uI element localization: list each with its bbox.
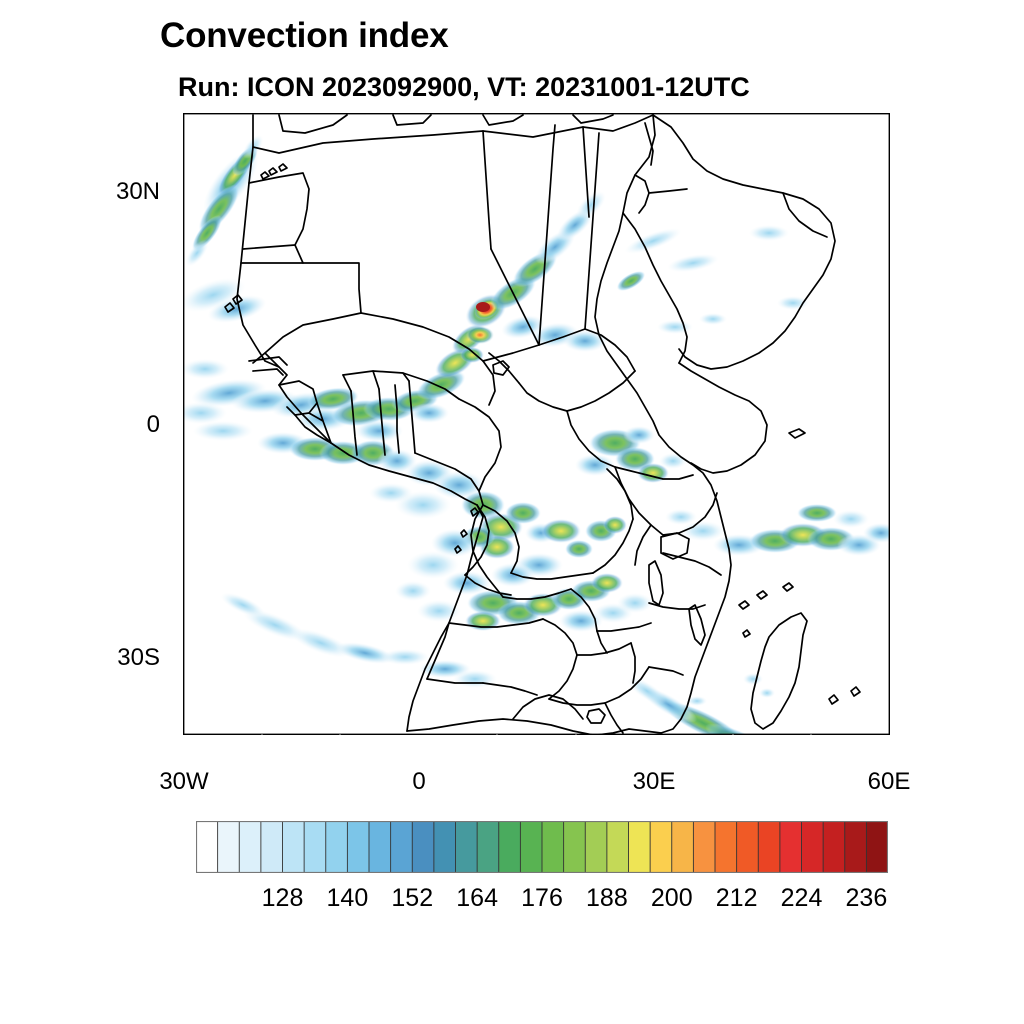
colorbar-tick-label: 140 [312,884,382,913]
colorbar-cell [196,821,218,873]
x-axis-label-30w: 30W [144,768,224,796]
colorbar-tick-label: 128 [248,884,318,913]
colorbar-cell [477,821,499,873]
colorbar-tick-label: 152 [377,884,447,913]
colorbar-cell [283,821,305,873]
colorbar-cell [261,821,283,873]
colorbar-cell [456,821,478,873]
colorbar-tick-label: 176 [507,884,577,913]
colorbar-cell [326,821,348,873]
colorbar-cell [845,821,867,873]
colorbar-cell [737,821,759,873]
colorbar-cell [607,821,629,873]
colorbar-cell [564,821,586,873]
colorbar-cell [672,821,694,873]
map-plot-area [183,113,890,735]
colorbar-cell [823,821,845,873]
page-title: Convection index [160,16,449,56]
colorbar-cell [218,821,240,873]
x-axis-label-60e: 60E [849,768,929,796]
colorbar-cell [520,821,542,873]
colorbar-cell [412,821,434,873]
colorbar-tick-label: 188 [572,884,642,913]
colorbar [196,821,888,873]
colorbar-cell [650,821,672,873]
colorbar-cell [391,821,413,873]
colorbar-cell [304,821,326,873]
colorbar-cell [369,821,391,873]
colorbar-cell [434,821,456,873]
colorbar-cell [239,821,261,873]
page-subtitle: Run: ICON 2023092900, VT: 20231001-12UTC [178,72,750,103]
colorbar-cell [542,821,564,873]
colorbar-tick-label: 200 [637,884,707,913]
colorbar-tick-label: 224 [767,884,837,913]
y-axis-label-30s: 30S [100,644,160,672]
x-axis-label-30e: 30E [614,768,694,796]
colorbar-cell [780,821,802,873]
colorbar-cell [347,821,369,873]
colorbar-cells [196,821,888,873]
x-axis-label-0: 0 [379,768,459,796]
y-axis-label-0: 0 [100,411,160,439]
colorbar-cell [715,821,737,873]
colorbar-cell [758,821,780,873]
colorbar-tick-label: 164 [442,884,512,913]
colorbar-tick-label: 212 [702,884,772,913]
colorbar-tick-label: 236 [831,884,901,913]
y-axis-label-30n: 30N [100,178,160,206]
figure-canvas: Convection index Run: ICON 2023092900, V… [0,0,1024,1024]
colorbar-cell [802,821,824,873]
colorbar-cell [866,821,888,873]
colorbar-cell [499,821,521,873]
colorbar-cell [585,821,607,873]
colorbar-cell [629,821,651,873]
colorbar-cell [693,821,715,873]
